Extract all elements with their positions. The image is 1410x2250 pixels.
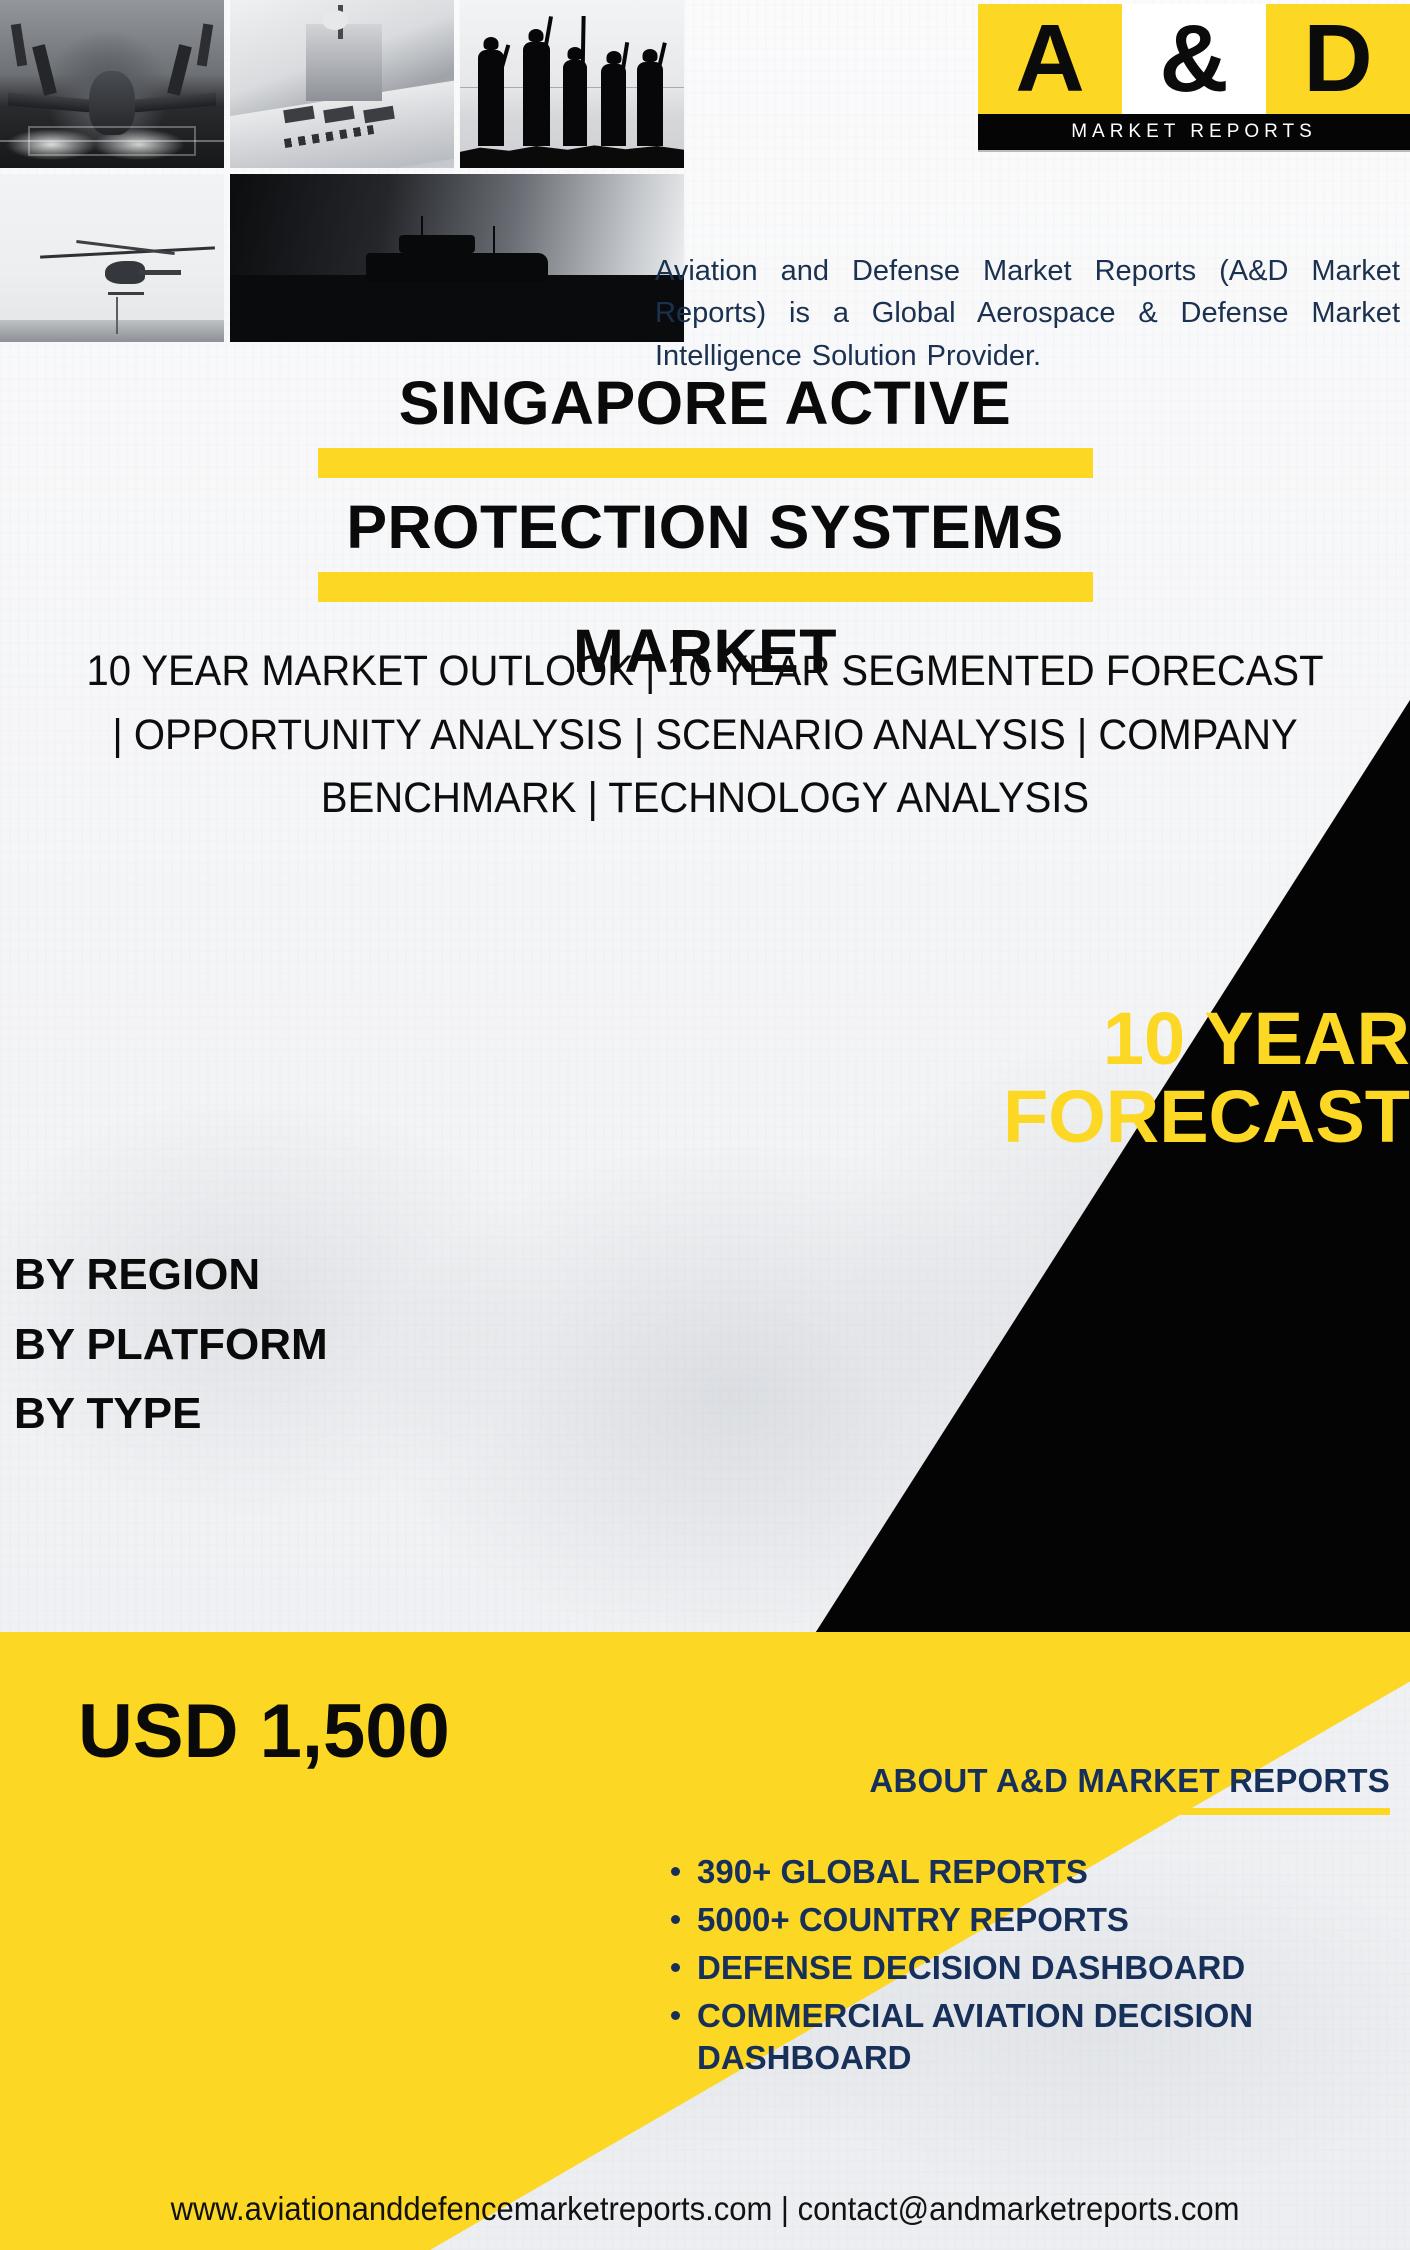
page-title: SINGAPORE ACTIVE PROTECTION SYSTEMS MARK… [0, 358, 1410, 683]
heli-skid [108, 292, 144, 295]
photo-mosaic [0, 0, 672, 344]
list-item: COMMERCIAL AVIATION DECISION DASHBOARD [655, 1995, 1390, 2079]
list-item: 390+ GLOBAL REPORTS [655, 1851, 1390, 1893]
soldier-helmet [606, 51, 621, 64]
forecast-line-2: FORECAST [650, 1078, 1410, 1156]
about-underline [655, 1808, 1390, 1815]
logo-subtitle: MARKET REPORTS [1071, 121, 1317, 143]
price-value: USD 1,500 [78, 1688, 450, 1775]
footer-contact: www.aviationanddefencemarketreports.com … [42, 2190, 1367, 2228]
logo-letters: A & D [978, 4, 1410, 114]
about-heading: ABOUT A&D MARKET REPORTS [655, 1762, 1390, 1800]
antenna-2 [493, 226, 495, 253]
about-bullet-list: 390+ GLOBAL REPORTS 5000+ COUNTRY REPORT… [655, 1851, 1390, 2079]
jet-tailfin-left [32, 45, 57, 97]
segment-list: BY REGION BY PLATFORM BY TYPE [14, 1240, 328, 1449]
ship-superstructure [306, 24, 382, 101]
deck-marking [28, 126, 196, 156]
about-panel: ABOUT A&D MARKET REPORTS 390+ GLOBAL REP… [655, 1762, 1390, 2085]
armored-vehicle [366, 253, 548, 282]
soldier-rifle [580, 16, 585, 88]
jet-fuselage [89, 71, 135, 135]
title-rule-bottom [318, 572, 1093, 602]
armored-vehicle-photo [230, 174, 684, 342]
jet-wing-left [8, 92, 92, 112]
terrain [230, 275, 684, 342]
segment-by-platform: BY PLATFORM [14, 1310, 328, 1380]
jet-outer-pylon-left [11, 23, 27, 66]
forecast-callout: 10 YEAR FORECAST [650, 1000, 1410, 1157]
jet-outer-pylon-right [197, 23, 213, 66]
title-rule-top [318, 448, 1093, 478]
forecast-line-1: 10 YEAR [650, 1000, 1410, 1078]
logo-letter-d: D [1266, 4, 1410, 114]
jet-tailfin-right [167, 45, 192, 97]
list-item: DEFENSE DECISION DASHBOARD [655, 1947, 1390, 1989]
antenna-1 [421, 216, 423, 253]
soldier-helmet [483, 37, 498, 50]
soldier-5 [637, 62, 663, 146]
ship-radome [322, 10, 348, 30]
heli-tail-boom [139, 270, 181, 275]
soldiers-photo [460, 0, 684, 168]
logo-letter-a: A [978, 4, 1122, 114]
black-diagonal-panel [0, 700, 1410, 1640]
jet-wing-right [132, 92, 216, 112]
logo-letter-ampersand: & [1122, 4, 1266, 114]
segment-by-type: BY TYPE [14, 1379, 328, 1449]
title-line-2: PROTECTION SYSTEMS [0, 496, 1410, 558]
fighter-jet-photo [0, 0, 224, 168]
soldier-helmet [529, 29, 544, 42]
soldier-4 [601, 64, 626, 146]
warship-photo [230, 0, 454, 168]
soldier-helmet [642, 49, 657, 62]
soldier-3 [563, 60, 587, 146]
subtitle-features: 10 YEAR MARKET OUTLOOK | 10 YEAR SEGMENT… [77, 640, 1333, 831]
logo-subtitle-bar: MARKET REPORTS [978, 114, 1410, 150]
brand-logo: A & D MARKET REPORTS [978, 4, 1410, 152]
poster-page: A & D MARKET REPORTS Aviation and Defens… [0, 0, 1410, 2250]
helicopter-photo [0, 174, 224, 342]
soldier-rifle [539, 16, 553, 74]
soldier-1 [478, 50, 504, 146]
soldier-rifle [494, 45, 511, 90]
segment-by-region: BY REGION [14, 1240, 328, 1310]
field-grass [0, 320, 224, 342]
list-item: 5000+ COUNTRY REPORTS [655, 1899, 1390, 1941]
soldier-2 [523, 42, 550, 146]
title-line-1: SINGAPORE ACTIVE [0, 372, 1410, 434]
